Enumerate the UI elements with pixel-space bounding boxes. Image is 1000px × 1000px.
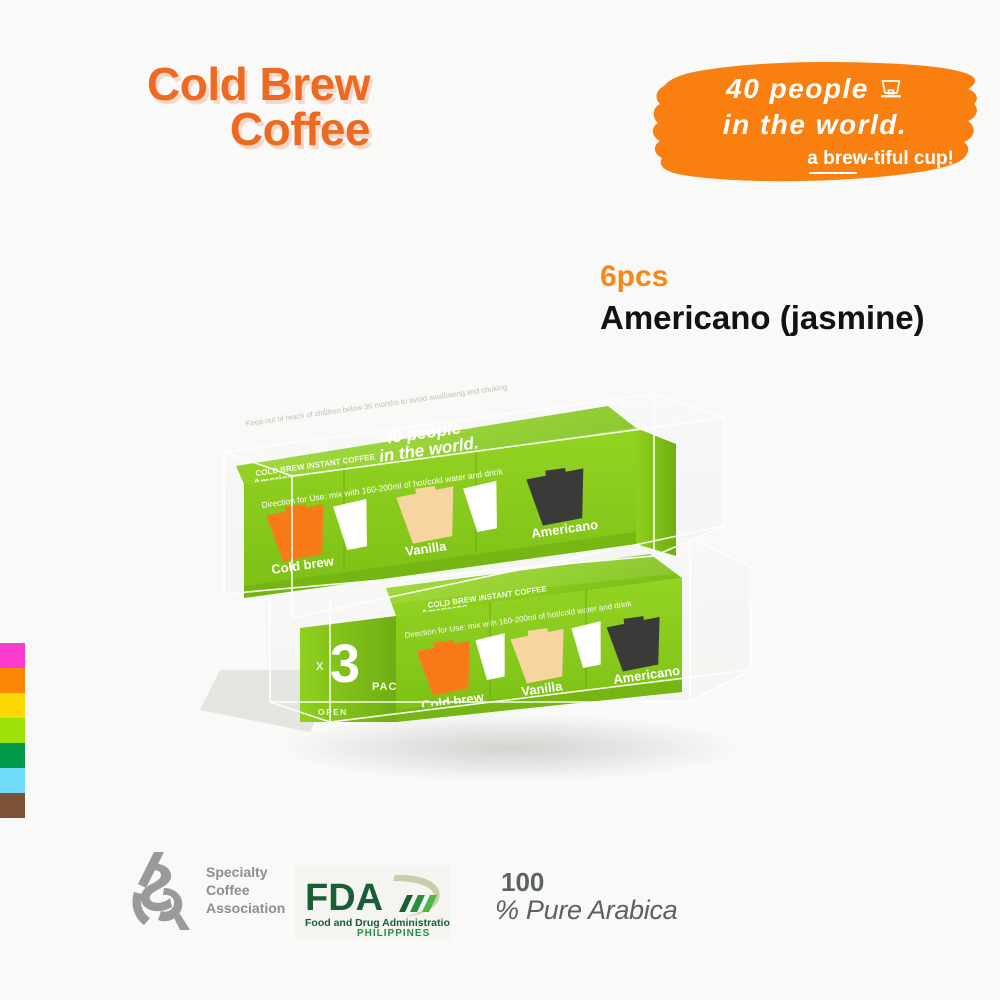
- badge-line-1-row: 40 people: [726, 73, 904, 105]
- page-title: Cold Brew Coffee: [60, 62, 370, 152]
- tagline-underline: [809, 172, 857, 174]
- product-listing-canvas: Cold Brew Coffee 40 people in the world.…: [0, 0, 1000, 1000]
- swatch-yellow: [0, 693, 25, 718]
- sca-text-block: Specialty Coffee Association: [206, 863, 285, 918]
- swatch-dark-green: [0, 743, 25, 768]
- swatch-orange: [0, 668, 25, 693]
- variant-info: 6pcs Americano (jasmine): [600, 262, 925, 334]
- arabica-number: 100: [501, 872, 677, 893]
- swatch-brown: [0, 793, 25, 818]
- fda-mark-text: FDA: [305, 877, 383, 919]
- swatch-light-green: [0, 718, 25, 743]
- sca-line-1: Specialty: [206, 863, 285, 881]
- badge-tagline-text: a brew-tiful cup!: [807, 148, 954, 169]
- arabica-text: % Pure Arabica: [495, 895, 677, 926]
- variant-name: Americano (jasmine): [600, 301, 925, 334]
- product-render: x 3 PACKS OPEN COLD BREW INSTANT COFFEE …: [190, 370, 810, 800]
- variant-count: 6pcs: [600, 262, 925, 292]
- product-image: x 3 PACKS OPEN COLD BREW INSTANT COFFEE …: [190, 370, 810, 800]
- open-tab-label: OPEN: [318, 707, 348, 717]
- qty-prefix: x: [316, 657, 324, 674]
- certification-logos: Specialty Coffee Association FDA Food an…: [110, 840, 750, 960]
- qty-number: 3: [330, 634, 360, 694]
- fda-line-2: PHILIPPINES: [357, 928, 430, 939]
- brand-logo-badge: 40 people in the world. a brew-tiful cup…: [650, 58, 980, 186]
- fda-mark-icon: FDA Food and Drug Administration PHILIPP…: [295, 865, 450, 940]
- title-line-1: Cold Brew: [60, 62, 370, 107]
- badge-text-group: 40 people in the world. a brew-tiful cup…: [650, 58, 980, 186]
- ground-shadow: [280, 714, 740, 782]
- sca-line-3: Association: [206, 899, 285, 917]
- arabica-badge: 100 % Pure Arabica: [495, 872, 677, 926]
- coffee-cup-icon: [878, 78, 904, 100]
- fda-logo: FDA Food and Drug Administration PHILIPP…: [295, 865, 450, 940]
- sca-logo: Specialty Coffee Association: [128, 848, 285, 932]
- badge-line-2: in the world.: [723, 109, 907, 141]
- swatch-cyan: [0, 768, 25, 793]
- badge-line-1: 40 people: [726, 73, 869, 105]
- title-line-2: Coffee: [60, 107, 370, 152]
- badge-tagline: a brew-tiful cup!: [807, 148, 954, 170]
- sca-line-2: Coffee: [206, 881, 285, 899]
- sca-mark-icon: [128, 848, 194, 932]
- swatch-magenta: [0, 643, 25, 668]
- color-swatch-strip: [0, 643, 25, 818]
